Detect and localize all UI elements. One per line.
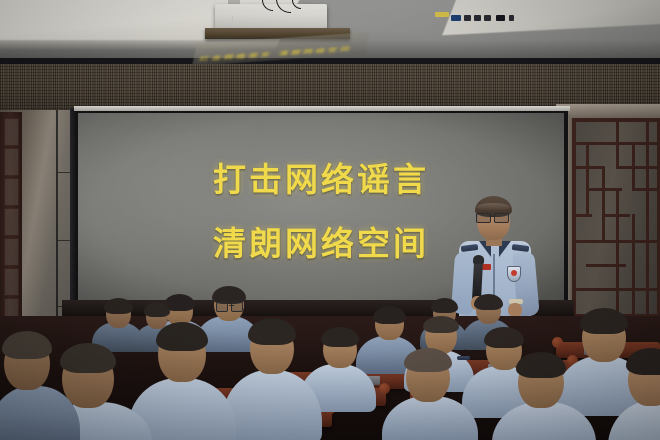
projector-label-sticker (435, 12, 449, 17)
right-wall-top-rail (556, 104, 660, 118)
audience-hair (580, 308, 628, 334)
audience-shoulders (0, 386, 80, 440)
audience-member-foreground (382, 352, 478, 440)
chinese-lattice-screen-left (0, 112, 22, 340)
audience-hair (626, 348, 660, 375)
audience-hair (431, 298, 458, 313)
audience-hair (144, 302, 170, 317)
audience-hair (248, 318, 296, 345)
chinese-lattice-screen-right (572, 118, 660, 340)
audience-hair (156, 322, 208, 351)
projection-screen-top-edge (74, 106, 570, 111)
lecture-hall-photo: 打击网络谣言 清朗网络空间 (0, 0, 660, 440)
audience-member-foreground (0, 336, 80, 440)
audience-hair (321, 327, 359, 347)
audience-shoulders (382, 396, 478, 440)
presenter-police-badge (507, 266, 521, 282)
audience-shoulders (608, 400, 660, 440)
audience-hair (404, 348, 452, 372)
audience-hair (474, 294, 503, 310)
projector-port-panel (451, 14, 521, 23)
audience-member-foreground (608, 352, 660, 440)
audience-hair (423, 316, 459, 333)
audience-shoulders (222, 370, 322, 440)
audience-hair (516, 352, 566, 378)
audience-hair (2, 331, 52, 359)
projection-screen-left-edge (70, 108, 77, 314)
audience-hair (484, 327, 524, 348)
audience-member-foreground (492, 356, 596, 440)
audience-hair (104, 298, 133, 314)
audience-member-foreground (222, 322, 322, 440)
audience-hair (373, 306, 406, 324)
eyeglasses-icon (216, 302, 243, 310)
eyeglasses-icon (476, 213, 511, 221)
